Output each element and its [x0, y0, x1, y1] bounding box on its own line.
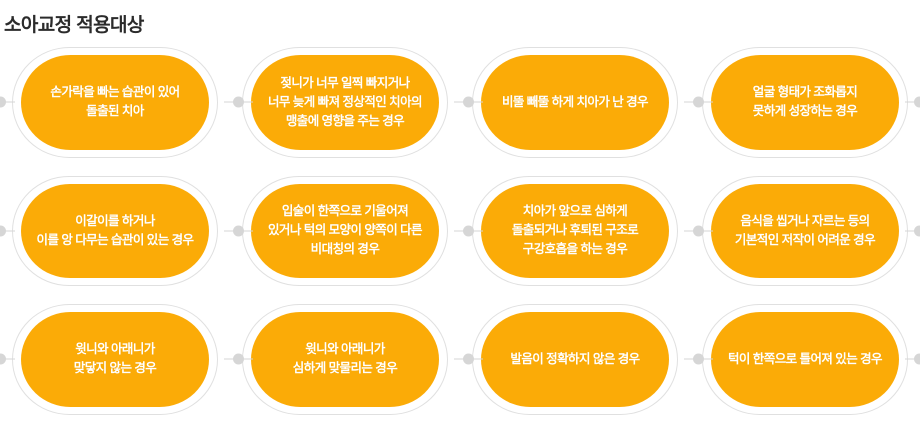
card-label: 비뚤 빼뚤 하게 치아가 난 경우 [496, 93, 654, 112]
orthodontic-criteria-grid: 손가락을 빠는 습관이 있어 돌출된 치아 젖니가 너무 일찍 빠지거나 너무 … [0, 38, 920, 424]
card-label: 치아가 앞으로 심하게 돌출되거나 후퇴된 구조로 구강호흡을 하는 경우 [506, 202, 644, 259]
card-body[interactable]: 음식을 씹거나 자르는 등의 기본적인 저작이 어려운 경우 [711, 184, 899, 279]
criteria-row: 손가락을 빠는 습관이 있어 돌출된 치아 젖니가 너무 일찍 빠지거나 너무 … [0, 38, 920, 167]
criteria-card[interactable]: 손가락을 빠는 습관이 있어 돌출된 치아 [0, 38, 230, 167]
card-label: 발음이 정확하지 않은 경우 [504, 350, 645, 369]
card-label: 턱이 한쪽으로 틀어져 있는 경우 [722, 350, 888, 369]
card-body[interactable]: 턱이 한쪽으로 틀어져 있는 경우 [711, 312, 899, 407]
card-body[interactable]: 비뚤 빼뚤 하게 치아가 난 경우 [481, 55, 669, 150]
page-title: 소아교정 적용대상 [4, 13, 144, 39]
card-label: 윗니와 아래니가 심하게 맞물리는 경우 [287, 340, 403, 378]
criteria-card[interactable]: 비뚤 빼뚤 하게 치아가 난 경우 [460, 38, 690, 167]
card-body[interactable]: 젖니가 너무 일찍 빠지거나 너무 늦게 빠져 정상적인 치아의 맹출에 영향을… [251, 55, 439, 150]
card-body[interactable]: 윗니와 아래니가 심하게 맞물리는 경우 [251, 312, 439, 407]
card-body[interactable]: 얼굴 형태가 조화롭지 못하게 성장하는 경우 [711, 55, 899, 150]
criteria-card[interactable]: 윗니와 아래니가 맞닿지 않는 경우 [0, 295, 230, 424]
card-body[interactable]: 발음이 정확하지 않은 경우 [481, 312, 669, 407]
card-body[interactable]: 손가락을 빠는 습관이 있어 돌출된 치아 [21, 55, 209, 150]
criteria-card[interactable]: 얼굴 형태가 조화롭지 못하게 성장하는 경우 [690, 38, 920, 167]
card-label: 윗니와 아래니가 맞닿지 않는 경우 [68, 340, 163, 378]
criteria-row: 윗니와 아래니가 맞닿지 않는 경우 윗니와 아래니가 심하게 맞물리는 경우 … [0, 295, 920, 424]
card-label: 손가락을 빠는 습관이 있어 돌출된 치아 [44, 83, 185, 121]
criteria-card[interactable]: 윗니와 아래니가 심하게 맞물리는 경우 [230, 295, 460, 424]
criteria-card[interactable]: 치아가 앞으로 심하게 돌출되거나 후퇴된 구조로 구강호흡을 하는 경우 [460, 167, 690, 296]
criteria-card[interactable]: 턱이 한쪽으로 틀어져 있는 경우 [690, 295, 920, 424]
card-label: 젖니가 너무 일찍 빠지거나 너무 늦게 빠져 정상적인 치아의 맹출에 영향을… [262, 74, 428, 131]
criteria-card[interactable]: 이갈이를 하거나 이를 앙 다무는 습관이 있는 경우 [0, 167, 230, 296]
criteria-row: 이갈이를 하거나 이를 앙 다무는 습관이 있는 경우 입술이 한쪽으로 기울어… [0, 167, 920, 296]
criteria-card[interactable]: 음식을 씹거나 자르는 등의 기본적인 저작이 어려운 경우 [690, 167, 920, 296]
criteria-card[interactable]: 발음이 정확하지 않은 경우 [460, 295, 690, 424]
card-label: 얼굴 형태가 조화롭지 못하게 성장하는 경우 [747, 83, 863, 121]
card-body[interactable]: 치아가 앞으로 심하게 돌출되거나 후퇴된 구조로 구강호흡을 하는 경우 [481, 184, 669, 279]
card-label: 이갈이를 하거나 이를 앙 다무는 습관이 있는 경우 [31, 212, 200, 250]
card-body[interactable]: 입술이 한쪽으로 기울어져 있거나 턱의 모양이 양쪽이 다른 비대칭의 경우 [251, 184, 439, 279]
card-body[interactable]: 이갈이를 하거나 이를 앙 다무는 습관이 있는 경우 [21, 184, 209, 279]
criteria-card[interactable]: 젖니가 너무 일찍 빠지거나 너무 늦게 빠져 정상적인 치아의 맹출에 영향을… [230, 38, 460, 167]
card-label: 입술이 한쪽으로 기울어져 있거나 턱의 모양이 양쪽이 다른 비대칭의 경우 [262, 202, 428, 259]
card-label: 음식을 씹거나 자르는 등의 기본적인 저작이 어려운 경우 [729, 212, 881, 250]
criteria-card[interactable]: 입술이 한쪽으로 기울어져 있거나 턱의 모양이 양쪽이 다른 비대칭의 경우 [230, 167, 460, 296]
card-body[interactable]: 윗니와 아래니가 맞닿지 않는 경우 [21, 312, 209, 407]
